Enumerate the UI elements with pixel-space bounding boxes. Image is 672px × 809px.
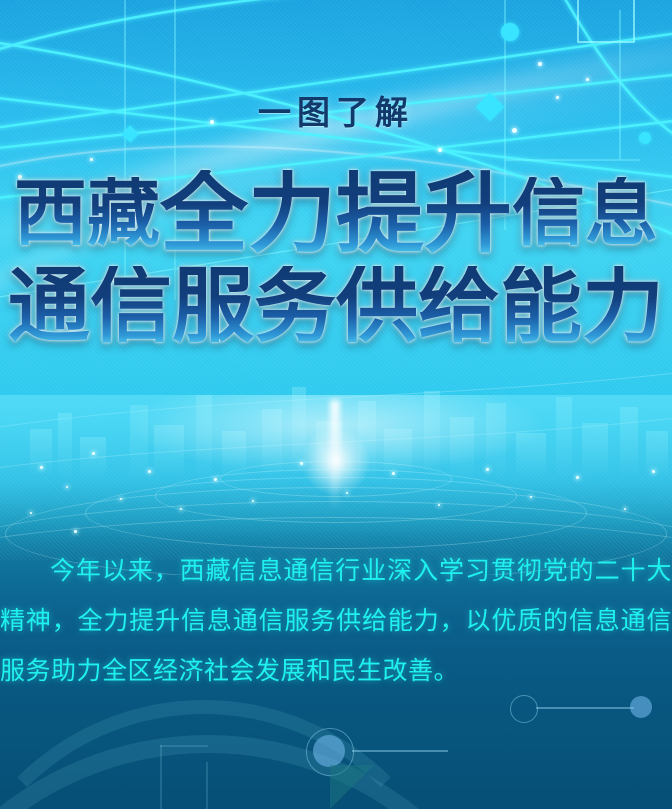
- node-dot-left-icon: [313, 735, 345, 767]
- title-line2-text: 通信服务供给能力: [8, 266, 664, 348]
- title-part2: 全力提升: [160, 170, 512, 258]
- page-title: 西藏西藏全力提升全力提升信息信息 通信服务供给能力通信服务供给能力: [0, 164, 672, 348]
- light-beam-glow: [300, 425, 372, 497]
- node-dot-right-icon: [630, 696, 652, 718]
- corner-triangle-icon: [330, 765, 374, 809]
- kicker-text: 一图了解: [0, 86, 672, 134]
- body-paragraph: 今年以来，西藏信息通信行业深入学习贯彻党的二十大精神，全力提升信息通信服务供给能…: [0, 546, 672, 696]
- node-ring-mid-icon: [510, 695, 538, 723]
- title-part3: 信息: [512, 177, 658, 250]
- city-skyline-icon: [0, 380, 672, 475]
- title-part1: 西藏: [14, 177, 160, 250]
- grid-line-v1: [160, 745, 162, 809]
- node-connector-line-2: [536, 707, 634, 709]
- grid-line-h1: [160, 745, 208, 747]
- horizon-glow: [0, 395, 672, 565]
- body-paragraph-text: 今年以来，西藏信息通信行业深入学习贯彻党的二十大精神，全力提升信息通信服务供给能…: [0, 546, 672, 696]
- grid-line-v2: [206, 762, 208, 809]
- title-line-2: 通信服务供给能力通信服务供给能力: [0, 266, 672, 348]
- infographic-poster: 一图了解 西藏西藏全力提升全力提升信息信息 通信服务供给能力通信服务供给能力 今…: [0, 0, 672, 809]
- node-connector-line: [352, 750, 448, 752]
- title-line-1: 西藏西藏全力提升全力提升信息信息: [0, 164, 672, 252]
- light-beam: [330, 400, 340, 510]
